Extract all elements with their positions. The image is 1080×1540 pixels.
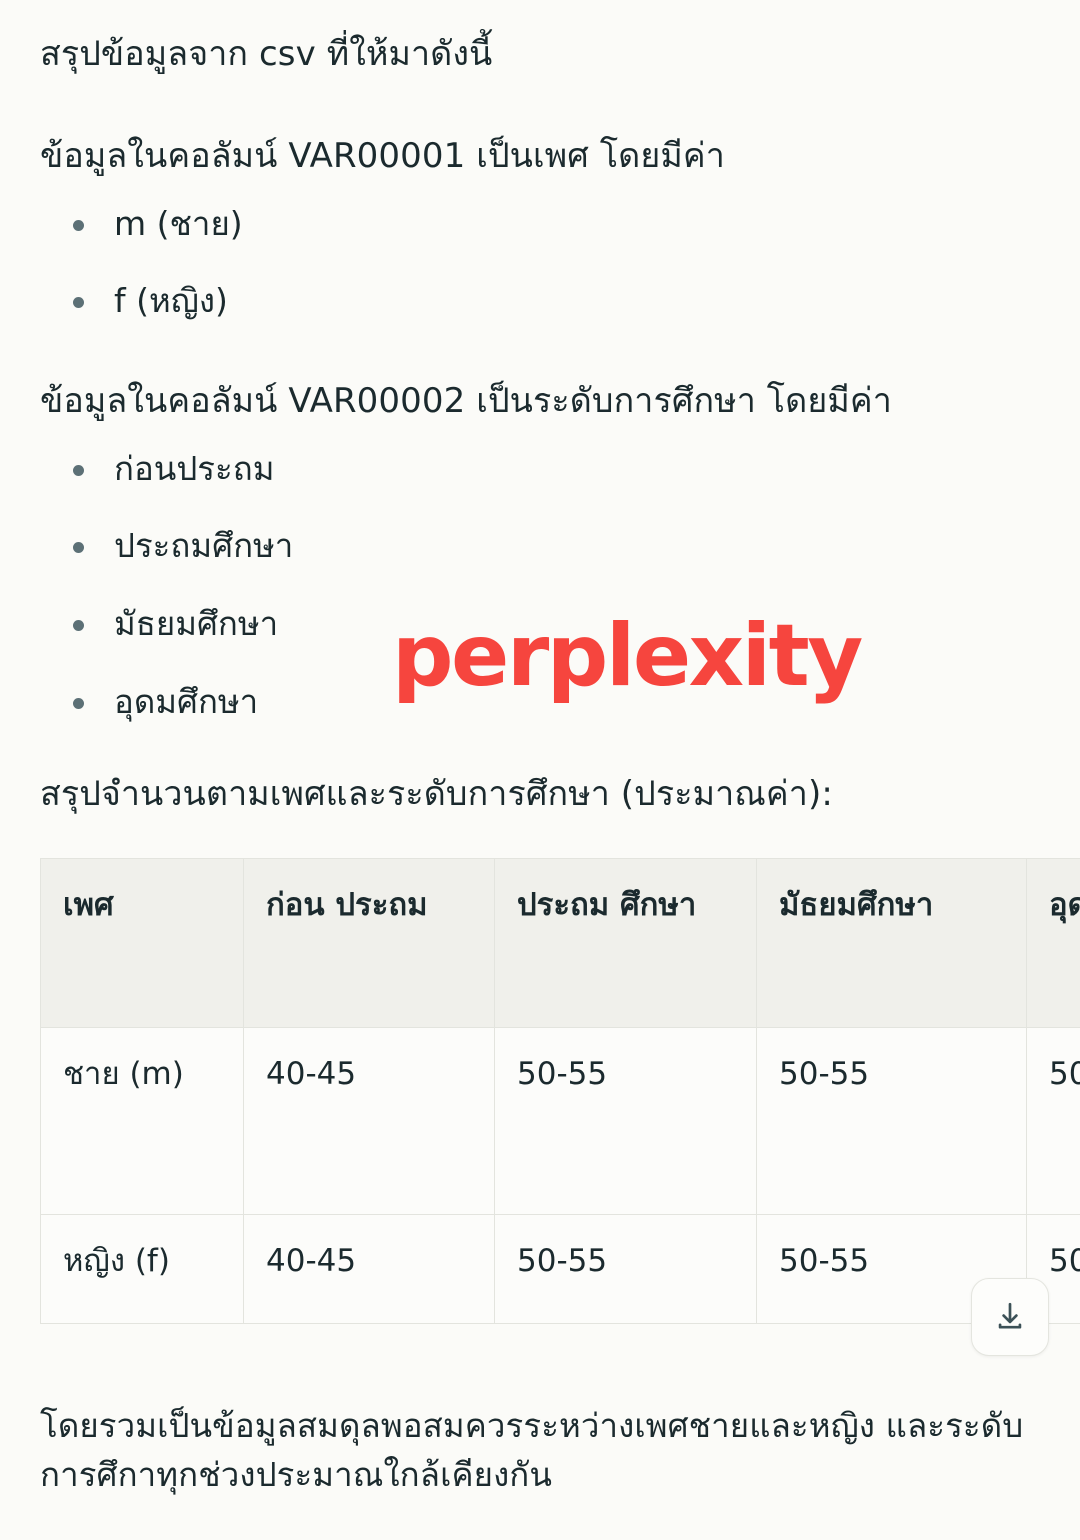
cell-female-primary: 50-55 bbox=[495, 1215, 757, 1324]
table-header-row: เพศ ก่อน ประถม ประถม ศึกษา มัธยมศึกษา อุ… bbox=[41, 859, 1080, 1028]
column-header-primary: ประถม ศึกษา bbox=[495, 859, 757, 1028]
table-row: ชาย (m) 40-45 50-55 50-55 50-55 bbox=[41, 1028, 1080, 1215]
conclusion-paragraph: โดยรวมเป็นข้อมูลสมดุลพอสมควรระหว่างเพศชา… bbox=[40, 1324, 1040, 1500]
column-header-preprimary: ก่อน ประถม bbox=[244, 859, 495, 1028]
list-item-label: f (หญิง) bbox=[114, 281, 228, 320]
education-values-list: ก่อนประถม ประถมศึกษา มัธยมศึกษา อุดมศึกษ… bbox=[40, 426, 1040, 725]
bullet-dot-icon bbox=[73, 620, 84, 631]
cell-male-primary: 50-55 bbox=[495, 1028, 757, 1215]
list-item: มัธยมศึกษา bbox=[40, 603, 1040, 646]
bullet-dot-icon bbox=[73, 297, 84, 308]
download-icon bbox=[993, 1300, 1027, 1334]
list-item: อุดมศึกษา bbox=[40, 681, 1040, 724]
summary-heading: สรุปจำนวนตามเพศและระดับการศึกษา (ประมาณค… bbox=[40, 724, 1040, 818]
list-item: ก่อนประถม bbox=[40, 448, 1040, 491]
intro-paragraph: สรุปข้อมูลจาก csv ที่ให้มาดังนี้ bbox=[40, 0, 1040, 78]
cell-female-preprimary: 40-45 bbox=[244, 1215, 495, 1324]
list-item-label: ประถมศึกษา bbox=[114, 526, 293, 565]
column-header-secondary: มัธยมศึกษา bbox=[757, 859, 1027, 1028]
list-item-label: มัธยมศึกษา bbox=[114, 604, 278, 643]
bullet-dot-icon bbox=[73, 698, 84, 709]
download-button[interactable] bbox=[971, 1278, 1049, 1356]
bullet-dot-icon bbox=[73, 220, 84, 231]
column-header-sex: เพศ bbox=[41, 859, 244, 1028]
list-item: ประถมศึกษา bbox=[40, 525, 1040, 568]
table-header: เพศ ก่อน ประถม ประถม ศึกษา มัธยมศึกษา อุ… bbox=[41, 859, 1080, 1028]
answer-page: สรุปข้อมูลจาก csv ที่ให้มาดังนี้ ข้อมูลใ… bbox=[0, 0, 1080, 1540]
list-item-label: ก่อนประถม bbox=[114, 449, 275, 488]
list-item-label: m (ชาย) bbox=[114, 204, 243, 243]
row-label-female: หญิง (f) bbox=[41, 1215, 244, 1324]
var00002-heading: ข้อมูลในคอลัมน์ VAR00002 เป็นระดับการศึก… bbox=[40, 323, 1040, 425]
var00001-heading: ข้อมูลในคอลัมน์ VAR00001 เป็นเพศ โดยมีค่… bbox=[40, 78, 1040, 180]
bullet-dot-icon bbox=[73, 465, 84, 476]
summary-table: เพศ ก่อน ประถม ประถม ศึกษา มัธยมศึกษา อุ… bbox=[40, 858, 1080, 1324]
column-header-highereducation: อุดมศึกษา bbox=[1027, 859, 1080, 1028]
sex-values-list: m (ชาย) f (หญิง) bbox=[40, 181, 1040, 324]
summary-table-container: เพศ ก่อน ประถม ประถม ศึกษา มัธยมศึกษา อุ… bbox=[40, 858, 1040, 1324]
list-item-label: อุดมศึกษา bbox=[114, 682, 258, 721]
list-item: m (ชาย) bbox=[40, 203, 1040, 246]
row-label-male: ชาย (m) bbox=[41, 1028, 244, 1215]
bullet-dot-icon bbox=[73, 542, 84, 553]
table-body: ชาย (m) 40-45 50-55 50-55 50-55 หญิง (f)… bbox=[41, 1028, 1080, 1324]
table-row: หญิง (f) 40-45 50-55 50-55 50-55 bbox=[41, 1215, 1080, 1324]
list-item: f (หญิง) bbox=[40, 280, 1040, 323]
cell-male-secondary: 50-55 bbox=[757, 1028, 1027, 1215]
cell-male-higher: 50-55 bbox=[1027, 1028, 1080, 1215]
cell-male-preprimary: 40-45 bbox=[244, 1028, 495, 1215]
